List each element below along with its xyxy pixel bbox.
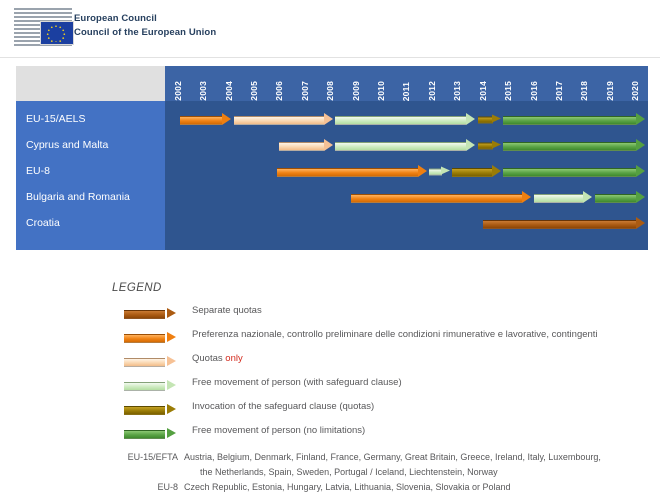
arrow-head-icon <box>636 113 645 125</box>
arrow-shaft <box>503 142 636 151</box>
timeline-arrow-preferenza-nazionale <box>277 165 427 177</box>
arrow-shaft <box>478 117 493 124</box>
legend-label-accent: only <box>225 353 242 364</box>
chart-body: EU-15/AELSCyprus and MaltaEU-8Bulgaria a… <box>16 101 648 250</box>
year-label: 2002 <box>173 80 183 101</box>
arrow-head-icon <box>167 380 176 390</box>
year-column-2013: 2013 <box>445 66 470 101</box>
year-column-2005: 2005 <box>241 66 266 101</box>
year-column-2009: 2009 <box>343 66 368 101</box>
year-column-2020: 2020 <box>623 66 648 101</box>
legend-title: LEGEND <box>112 282 660 294</box>
legend-label: Invocation of the safeguard clause (quot… <box>192 401 374 412</box>
year-column-2006: 2006 <box>267 66 292 101</box>
arrow-head-icon <box>167 428 176 438</box>
arrow-shaft <box>452 168 491 177</box>
year-column-2010: 2010 <box>368 66 393 101</box>
arrow-head-icon <box>167 332 176 342</box>
footnote-key: EU-8 <box>112 480 184 495</box>
year-label: 2007 <box>300 80 310 101</box>
footnote-value: Czech Republic, Estonia, Hungary, Latvia… <box>184 480 660 495</box>
year-column-2012: 2012 <box>419 66 444 101</box>
arrow-shaft <box>483 220 637 229</box>
timeline-row-2 <box>165 133 648 157</box>
legend-items: Separate quotasPreferenza nazionale, con… <box>112 302 660 446</box>
arrow-shaft <box>534 194 583 203</box>
arrow-head-icon <box>636 139 645 151</box>
year-column-2011: 2011 <box>394 66 419 101</box>
eu-flag-icon <box>40 21 74 45</box>
header-line-2: Council of the European Union <box>74 26 216 40</box>
legend-arrow-icon <box>124 332 176 343</box>
arrow-head-icon <box>492 165 501 177</box>
timeline-arrow-separate-quotas-orange <box>180 113 231 125</box>
year-label: 2004 <box>224 80 234 101</box>
legend-label: Quotas only <box>192 353 243 364</box>
legend-arrow-icon <box>124 380 176 391</box>
header-titles: European Council Council of the European… <box>74 12 216 40</box>
arrow-head-icon <box>222 113 231 125</box>
year-column-2007: 2007 <box>292 66 317 101</box>
year-label: 2012 <box>427 80 437 101</box>
year-label: 2015 <box>503 80 513 101</box>
legend-row-6: Free movement of person (no limitations) <box>112 422 660 446</box>
timeline-arrow-safeguard-invocation <box>452 165 500 177</box>
arrow-head-icon <box>466 113 475 125</box>
timeline-arrow-quotas-only <box>234 113 333 125</box>
year-label: 2005 <box>249 80 259 101</box>
page-header: European Council Council of the European… <box>0 0 660 58</box>
legend-label: Free movement of person (no limitations) <box>192 425 365 436</box>
arrow-shaft <box>124 382 165 391</box>
arrow-head-icon <box>492 141 501 149</box>
timeline-arrow-free-movement-no-limits <box>595 191 646 203</box>
arrow-shaft <box>124 310 165 319</box>
arrow-shaft <box>180 116 222 125</box>
arrow-shaft <box>478 143 493 150</box>
arrow-shaft <box>503 168 636 177</box>
legend-arrow-icon <box>124 404 176 415</box>
footnote-key: EU-15/EFTA <box>112 450 184 480</box>
timeline-arrow-preferenza-nazionale <box>351 191 531 203</box>
timeline-row-1 <box>165 107 648 131</box>
year-label: 2008 <box>325 80 335 101</box>
year-column-2014: 2014 <box>470 66 495 101</box>
legend-label: Separate quotas <box>192 305 262 316</box>
arrow-shaft <box>234 116 324 125</box>
arrow-head-icon <box>167 356 176 366</box>
chart-header-corner <box>16 66 165 101</box>
arrow-shaft <box>335 142 466 151</box>
row-label-5: Croatia <box>26 211 60 235</box>
arrow-shaft <box>503 116 636 125</box>
arrow-head-icon <box>636 217 645 229</box>
timeline-arrow-quotas-only <box>279 139 332 151</box>
arrow-head-icon <box>636 191 645 203</box>
arrow-shaft <box>351 194 522 203</box>
timeline-arrow-free-movement-no-limits <box>503 139 645 151</box>
legend: LEGEND Separate quotasPreferenza naziona… <box>112 282 660 446</box>
timeline-row-4 <box>165 185 648 209</box>
arrow-head-icon <box>583 191 592 203</box>
year-axis: 2002200320042005200620072008200920102011… <box>165 66 648 101</box>
legend-row-5: Invocation of the safeguard clause (quot… <box>112 398 660 422</box>
arrow-shaft <box>277 168 418 177</box>
year-label: 2010 <box>376 80 386 101</box>
year-label: 2019 <box>605 80 615 101</box>
arrow-head-icon <box>522 191 531 203</box>
row-label-1: EU-15/AELS <box>26 107 86 131</box>
row-label-3: EU-8 <box>26 159 50 183</box>
year-label: 2020 <box>630 80 640 101</box>
arrow-shaft <box>124 334 165 343</box>
timeline-arrow-free-movement-safeguard <box>534 191 592 203</box>
arrow-head-icon <box>167 308 176 318</box>
year-label: 2013 <box>452 80 462 101</box>
timeline-arrow-free-movement-safeguard <box>429 167 449 176</box>
timeline-arrow-safeguard-invocation <box>478 141 501 150</box>
european-council-logo <box>14 8 72 48</box>
legend-arrow-icon <box>124 428 176 439</box>
row-label-column: EU-15/AELSCyprus and MaltaEU-8Bulgaria a… <box>16 101 165 250</box>
timeline-arrow-separate-quotas <box>483 217 646 229</box>
footnote-2: EU-8Czech Republic, Estonia, Hungary, La… <box>112 480 660 495</box>
year-label: 2016 <box>529 80 539 101</box>
arrow-shaft <box>279 142 323 151</box>
arrow-shaft <box>124 430 165 439</box>
legend-arrow-icon <box>124 356 176 367</box>
timeline-arrow-free-movement-no-limits <box>503 165 645 177</box>
year-column-2002: 2002 <box>165 66 190 101</box>
year-label: 2014 <box>478 80 488 101</box>
chart-header-row: 2002200320042005200620072008200920102011… <box>16 66 648 101</box>
transition-period-chart: 2002200320042005200620072008200920102011… <box>16 66 648 250</box>
arrow-head-icon <box>441 167 450 175</box>
year-label: 2009 <box>351 80 361 101</box>
year-column-2019: 2019 <box>597 66 622 101</box>
year-column-2004: 2004 <box>216 66 241 101</box>
year-label: 2003 <box>198 80 208 101</box>
year-column-2018: 2018 <box>572 66 597 101</box>
arrow-head-icon <box>167 404 176 414</box>
arrow-head-icon <box>636 165 645 177</box>
arrow-head-icon <box>492 115 501 123</box>
legend-row-4: Free movement of person (with safeguard … <box>112 374 660 398</box>
timeline-arrow-free-movement-safeguard <box>335 139 475 151</box>
arrow-shaft <box>595 194 637 203</box>
timeline-arrow-free-movement-no-limits <box>503 113 645 125</box>
legend-label: Preferenza nazionale, controllo prelimin… <box>192 329 598 340</box>
year-column-2003: 2003 <box>190 66 215 101</box>
legend-row-1: Separate quotas <box>112 302 660 326</box>
timeline-plot-area <box>165 101 648 250</box>
footnotes: EU-15/EFTAAustria, Belgium, Denmark, Fin… <box>112 450 660 495</box>
arrow-head-icon <box>324 113 333 125</box>
row-label-2: Cyprus and Malta <box>26 133 108 157</box>
year-column-2008: 2008 <box>318 66 343 101</box>
timeline-arrow-free-movement-safeguard <box>335 113 475 125</box>
header-line-1: European Council <box>74 12 216 26</box>
timeline-arrow-safeguard-invocation <box>478 115 501 124</box>
year-label: 2017 <box>554 80 564 101</box>
header-divider <box>0 57 660 58</box>
year-column-2016: 2016 <box>521 66 546 101</box>
timeline-row-5 <box>165 211 648 235</box>
legend-label: Free movement of person (with safeguard … <box>192 377 402 388</box>
legend-arrow-icon <box>124 308 176 319</box>
year-label: 2006 <box>274 80 284 101</box>
arrow-shaft <box>124 406 165 415</box>
arrow-shaft <box>124 358 165 367</box>
footnote-1: EU-15/EFTAAustria, Belgium, Denmark, Fin… <box>112 450 660 480</box>
arrow-shaft <box>335 116 466 125</box>
year-column-2017: 2017 <box>546 66 571 101</box>
footnote-value-line2: the Netherlands, Spain, Sweden, Portugal… <box>184 465 660 480</box>
arrow-head-icon <box>466 139 475 151</box>
year-label: 2018 <box>579 80 589 101</box>
row-label-4: Bulgaria and Romania <box>26 185 130 209</box>
year-column-2015: 2015 <box>495 66 520 101</box>
arrow-head-icon <box>324 139 333 151</box>
arrow-head-icon <box>418 165 427 177</box>
legend-row-2: Preferenza nazionale, controllo prelimin… <box>112 326 660 350</box>
year-label: 2011 <box>401 81 411 101</box>
timeline-row-3 <box>165 159 648 183</box>
legend-row-3: Quotas only <box>112 350 660 374</box>
footnote-value: Austria, Belgium, Denmark, Finland, Fran… <box>184 450 660 480</box>
